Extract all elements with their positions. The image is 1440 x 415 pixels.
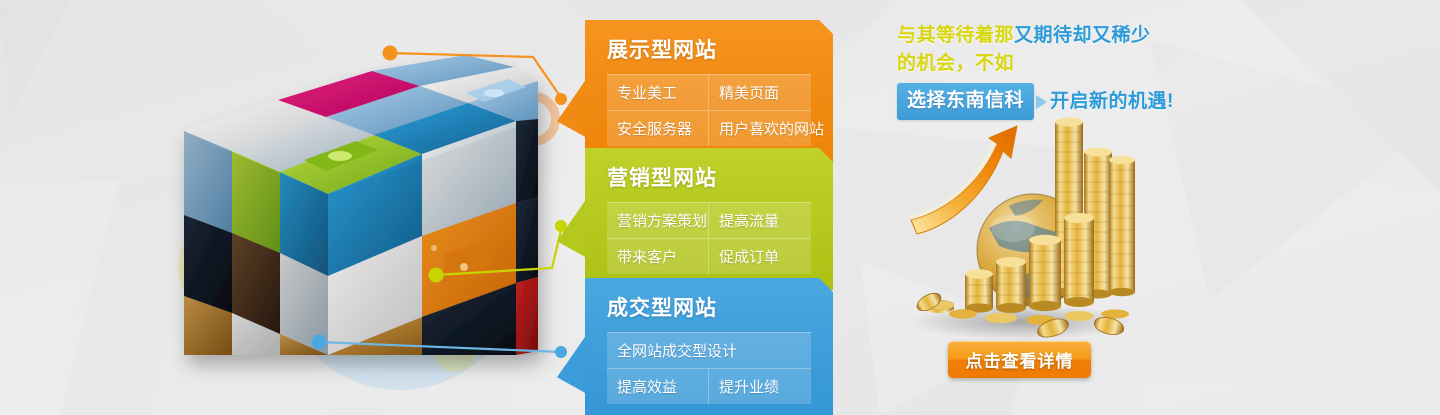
panel-conversion-features: 全网站成交型设计 提高效益 提升业绩 (607, 332, 811, 404)
feature-cell[interactable]: 精美页面 (709, 74, 811, 110)
feature-cell[interactable]: 营销方案策划 (607, 202, 709, 238)
panel-marketing-title: 营销型网站 (607, 162, 811, 192)
feature-cell[interactable]: 带来客户 (607, 238, 709, 274)
feature-cell[interactable]: 安全服务器 (607, 110, 709, 146)
feature-cell[interactable]: 全网站成交型设计 (607, 332, 811, 368)
panel-showcase-features: 专业美工 精美页面 安全服务器 用户喜欢的网站 (607, 74, 811, 146)
headline-line-1: 与其等待着那又期待却又稀少 (897, 22, 1187, 50)
panel-showcase[interactable]: 展示型网站 专业美工 精美页面 安全服务器 用户喜欢的网站 (585, 20, 833, 162)
panel-marketing-features: 营销方案策划 提高流量 带来客户 促成订单 (607, 202, 811, 274)
feature-cell[interactable]: 用户喜欢的网站 (709, 110, 811, 146)
globe-coins-illustration (893, 100, 1143, 345)
rubik-photo-cube (178, 55, 538, 355)
panel-conversion[interactable]: 成交型网站 全网站成交型设计 提高效益 提升业绩 (585, 278, 833, 415)
banner-stage: 展示型网站 专业美工 精美页面 安全服务器 用户喜欢的网站 营销型网站 营销方案… (0, 0, 1440, 415)
feature-cell[interactable]: 提升业绩 (709, 368, 811, 404)
headline-line1-blue: 又期待却又稀少 (1014, 25, 1151, 46)
view-details-button[interactable]: 点击查看详情 (948, 341, 1091, 378)
feature-cell[interactable]: 提高效益 (607, 368, 709, 404)
feature-cell[interactable]: 提高流量 (709, 202, 811, 238)
headline-line1-yellow: 与其等待着那 (897, 25, 1014, 46)
feature-cell[interactable]: 促成订单 (709, 238, 811, 274)
headline-line-2: 的机会，不如 (897, 50, 1187, 78)
panel-showcase-title: 展示型网站 (607, 34, 811, 64)
panel-marketing[interactable]: 营销型网站 营销方案策划 提高流量 带来客户 促成订单 (585, 148, 833, 290)
feature-cell[interactable]: 专业美工 (607, 74, 709, 110)
panel-conversion-title: 成交型网站 (607, 292, 811, 322)
